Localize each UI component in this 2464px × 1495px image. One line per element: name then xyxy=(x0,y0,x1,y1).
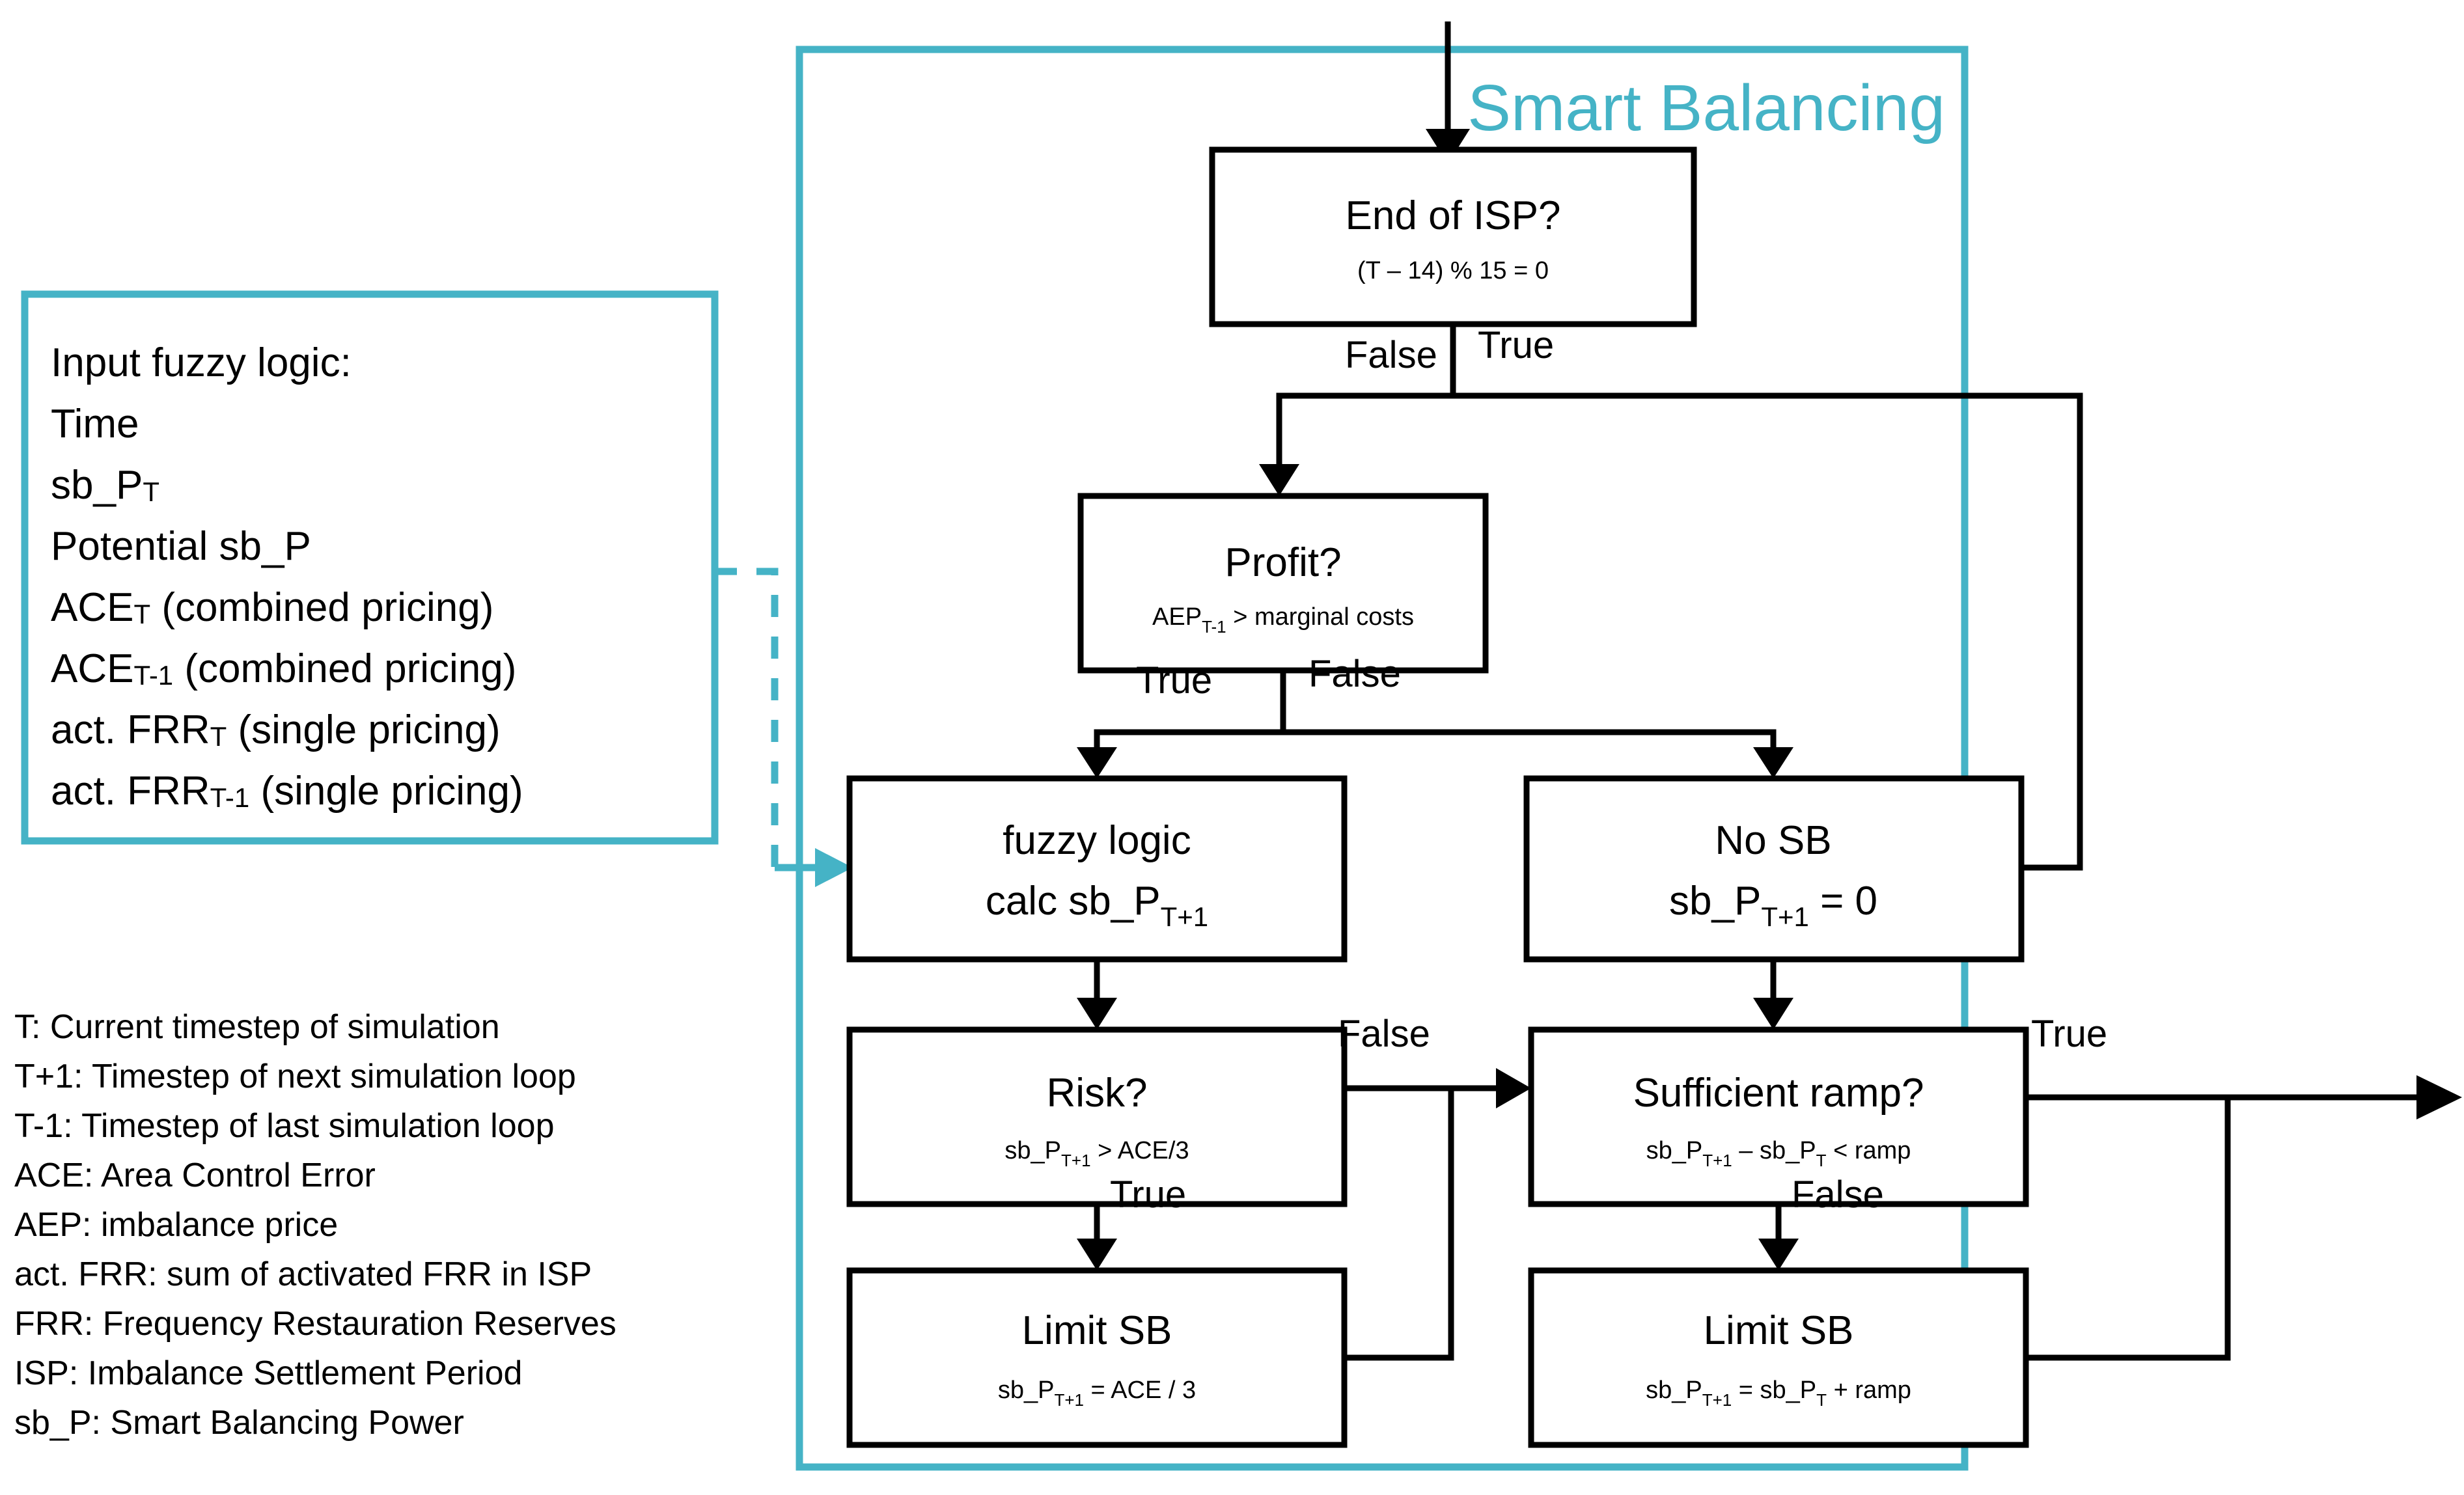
input-item-potential-sbp: Potential sb_P xyxy=(51,524,311,569)
label-isp-false: False xyxy=(1345,334,1437,376)
label-profit-false: False xyxy=(1308,653,1401,695)
legend-line-6: FRR: Frequency Restauration Reserves xyxy=(14,1305,616,1343)
input-item-ace-t: ACET (combined pricing) xyxy=(51,585,493,630)
input-connector-dashed xyxy=(715,571,775,868)
diagram-svg: Smart Balancing Input fuzzy logic: Time … xyxy=(0,0,2464,1495)
label-risk-false: False xyxy=(1338,1013,1430,1055)
node-limit-sb-right-title: Limit SB xyxy=(1704,1308,1854,1353)
label-ramp-false: False xyxy=(1792,1173,1884,1216)
ramp-false-arrowhead xyxy=(1758,1239,1799,1270)
node-profit-title: Profit? xyxy=(1225,540,1341,585)
profit-false-arrowhead xyxy=(1753,747,1793,778)
label-ramp-true: True xyxy=(2031,1013,2107,1055)
legend-line-0: T: Current timestep of simulation xyxy=(14,1008,500,1046)
node-sufficient-ramp-title: Sufficient ramp? xyxy=(1633,1071,1924,1116)
panel-title: Smart Balancing xyxy=(1467,72,1945,144)
node-limit-sb-left-title: Limit SB xyxy=(1022,1308,1172,1353)
legend-line-3: ACE: Area Control Error xyxy=(14,1157,376,1194)
node-no-sb-title-1: No SB xyxy=(1715,818,1831,863)
risk-true-arrowhead xyxy=(1077,1239,1117,1270)
input-item-frr-t: act. FRRT (single pricing) xyxy=(51,707,501,752)
legend-line-2: T-1: Timestep of last simulation loop xyxy=(14,1107,555,1145)
node-fuzzy-logic-title-1: fuzzy logic xyxy=(1003,818,1191,863)
node-limit-sb-left[interactable] xyxy=(850,1270,1344,1445)
legend-line-1: T+1: Timestep of next simulation loop xyxy=(14,1058,576,1095)
legend-line-7: ISP: Imbalance Settlement Period xyxy=(14,1354,522,1392)
isp-false-path xyxy=(1279,396,1453,465)
node-no-sb[interactable] xyxy=(1527,778,2021,959)
ramp-true-exit-arrowhead xyxy=(2416,1075,2462,1119)
legend-line-4: AEP: imbalance price xyxy=(14,1206,338,1244)
isp-false-arrowhead xyxy=(1259,464,1299,496)
profit-false-path xyxy=(1283,732,1773,748)
legend-line-5: act. FRR: sum of activated FRR in ISP xyxy=(14,1255,592,1293)
profit-true-path xyxy=(1097,732,1283,748)
node-risk-title: Risk? xyxy=(1046,1071,1147,1116)
label-risk-true: True xyxy=(1110,1173,1186,1216)
limit-sb-right-return-path xyxy=(2026,1097,2228,1358)
flowchart-canvas: Smart Balancing Input fuzzy logic: Time … xyxy=(0,0,2464,1495)
node-end-of-isp-title: End of ISP? xyxy=(1346,193,1561,238)
profit-true-arrowhead xyxy=(1077,747,1117,778)
node-limit-sb-right[interactable] xyxy=(1531,1270,2026,1445)
input-item-ace-t1: ACET-1 (combined pricing) xyxy=(51,646,516,691)
input-item-time: Time xyxy=(51,402,139,446)
limit-sb-left-return-path xyxy=(1344,1088,1451,1358)
fuzzy-to-risk-arrowhead xyxy=(1077,998,1117,1030)
risk-false-arrowhead xyxy=(1496,1068,1531,1108)
legend-line-8: sb_P: Smart Balancing Power xyxy=(14,1404,464,1442)
node-sufficient-ramp[interactable] xyxy=(1531,1030,2026,1204)
node-end-of-isp-sub: (T – 14) % 15 = 0 xyxy=(1357,257,1549,284)
label-isp-true: True xyxy=(1478,324,1554,366)
node-fuzzy-logic[interactable] xyxy=(850,778,1344,959)
input-item-frr-t1: act. FRRT-1 (single pricing) xyxy=(51,769,523,814)
input-heading: Input fuzzy logic: xyxy=(51,340,352,385)
node-risk[interactable] xyxy=(850,1030,1344,1204)
nosb-to-ramp-arrowhead xyxy=(1753,998,1793,1030)
label-profit-true: True xyxy=(1136,659,1212,702)
